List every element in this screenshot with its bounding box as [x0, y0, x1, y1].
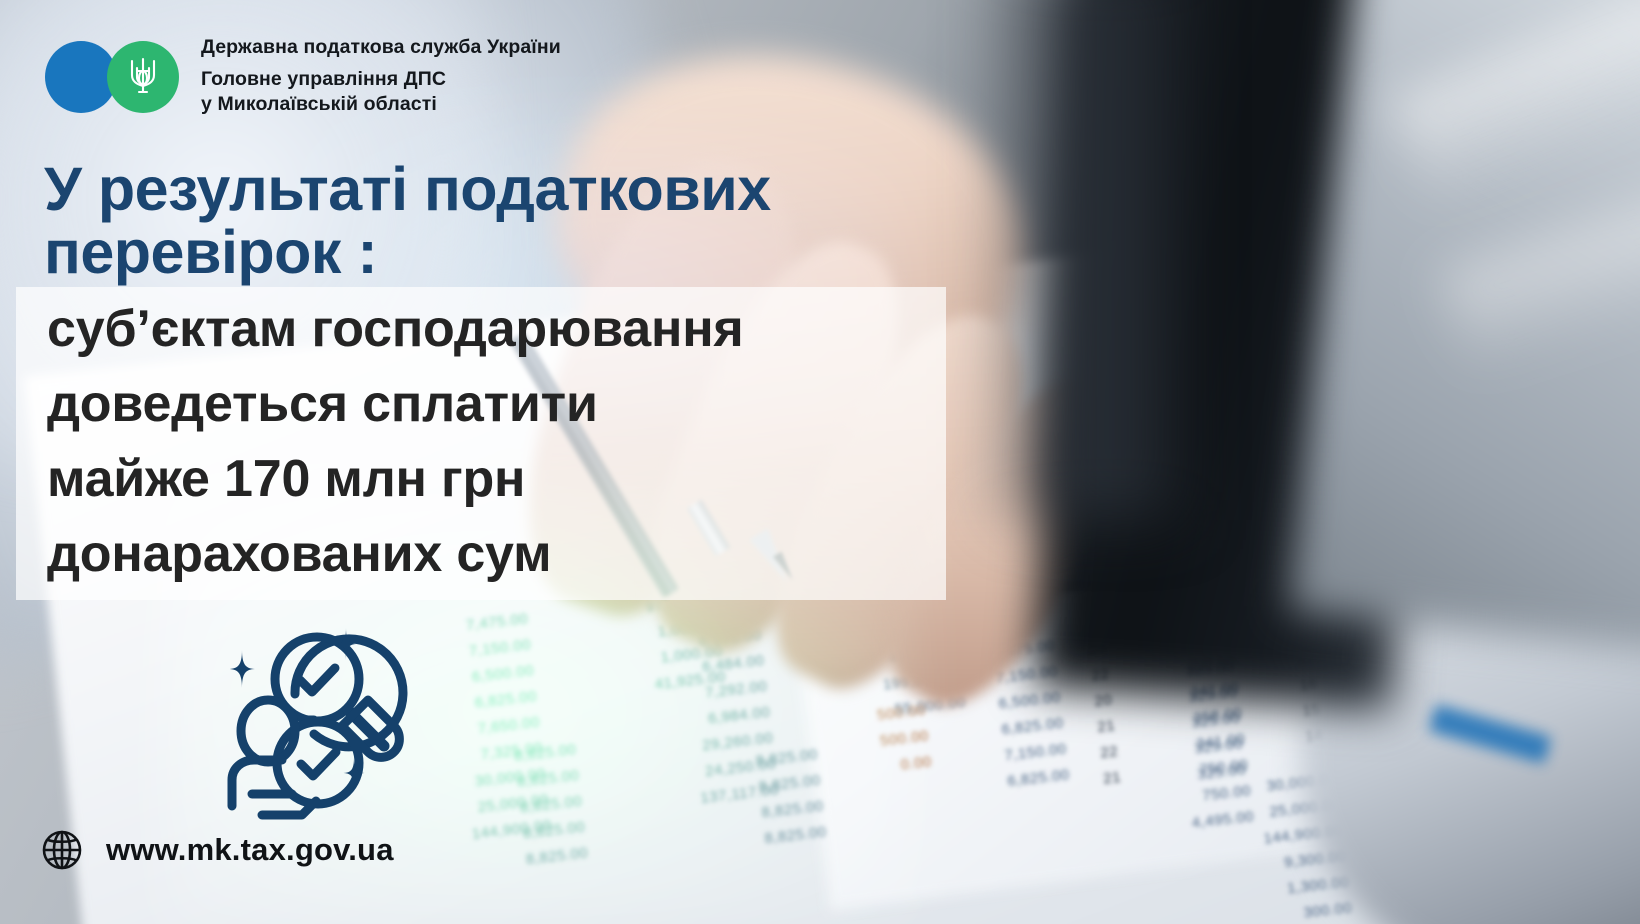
brand-header: Державна податкова служба України Головн…	[45, 36, 561, 117]
foreground-layer: Державна податкова служба України Головн…	[0, 0, 1640, 924]
globe-icon	[40, 828, 84, 872]
dps-logo	[45, 37, 179, 117]
magnifier-check-audit-icon	[196, 588, 440, 820]
website-url[interactable]: www.mk.tax.gov.ua	[106, 832, 394, 868]
poster-canvas: 2018 2019 2020 2021 0 25 50 75 100 242,8…	[0, 0, 1640, 924]
logo-green-circle	[107, 41, 179, 113]
footer: www.mk.tax.gov.ua	[40, 828, 394, 872]
body-text: суб’єктам господарювання доведеться спла…	[47, 292, 927, 592]
ukrainian-tryzub-icon	[126, 55, 160, 99]
headline: У результаті податкових перевірок :	[44, 158, 904, 284]
brand-line-2: Головне управління ДПС у Миколаївській о…	[201, 67, 561, 117]
brand-text: Державна податкова служба України Головн…	[201, 36, 561, 117]
sparkle-star-large	[228, 650, 256, 688]
brand-line-1: Державна податкова служба України	[201, 36, 561, 59]
